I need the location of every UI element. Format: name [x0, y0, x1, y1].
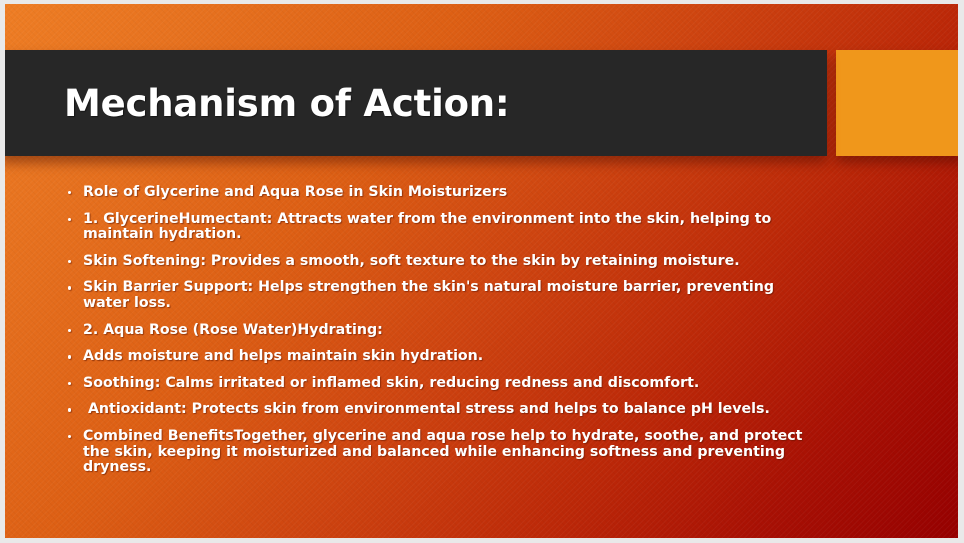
bullet-item: Adds moisture and helps maintain skin hy…: [63, 349, 823, 365]
slide-title: Mechanism of Action:: [64, 50, 510, 156]
bullet-item: Skin Softening: Provides a smooth, soft …: [63, 254, 823, 270]
bullet-item: Role of Glycerine and Aqua Rose in Skin …: [63, 185, 823, 201]
accent-block: [836, 50, 958, 156]
bullet-item: 2. Aqua Rose (Rose Water)Hydrating:: [63, 323, 823, 339]
slide-canvas: Mechanism of Action: Role of Glycerine a…: [5, 4, 958, 538]
bullet-item: Skin Barrier Support: Helps strengthen t…: [63, 280, 823, 311]
bullet-item: Soothing: Calms irritated or inflamed sk…: [63, 376, 823, 392]
bullet-list: Role of Glycerine and Aqua Rose in Skin …: [63, 185, 823, 487]
bullet-item: 1. GlycerineHumectant: Attracts water fr…: [63, 212, 823, 243]
bullet-item: Combined BenefitsTogether, glycerine and…: [63, 429, 823, 476]
bullet-item: Antioxidant: Protects skin from environm…: [63, 402, 823, 418]
presentation-slide: Mechanism of Action: Role of Glycerine a…: [0, 0, 964, 543]
title-band: Mechanism of Action:: [5, 50, 827, 156]
